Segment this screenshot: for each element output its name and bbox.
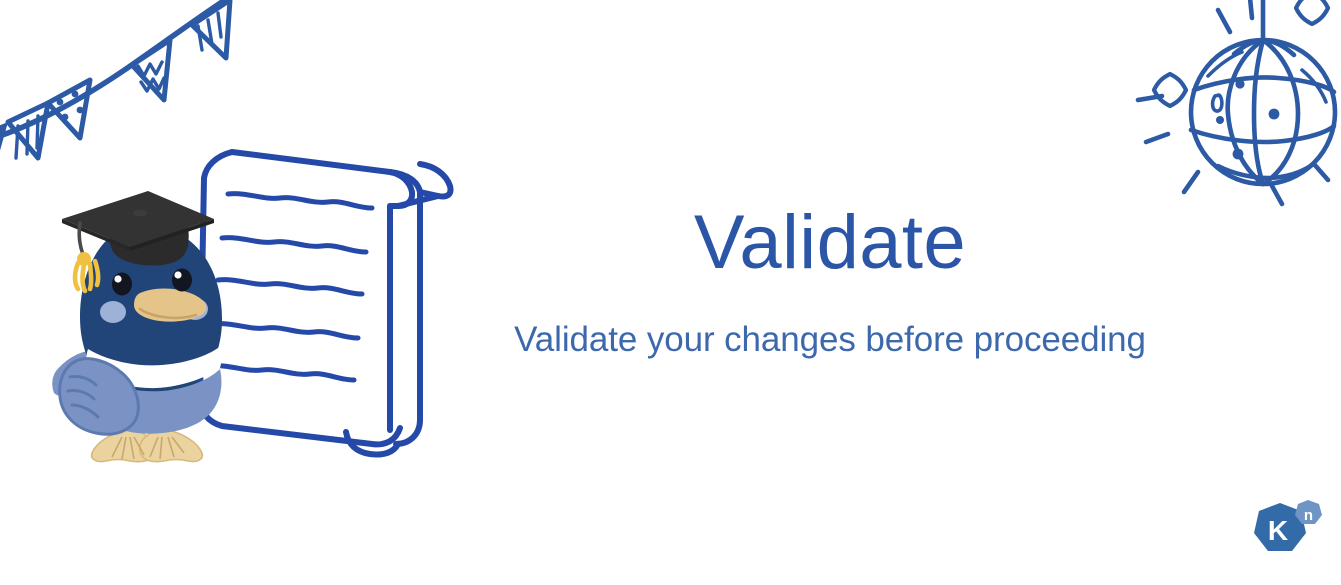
graduate-bird-mascot xyxy=(52,185,262,470)
bird-wing xyxy=(60,359,139,435)
bird-head-body xyxy=(80,227,222,399)
hero-text-block: Validate Validate your changes before pr… xyxy=(460,205,1200,360)
bird-legs xyxy=(122,397,172,433)
bunting-flag-dots xyxy=(48,80,90,138)
disco-ball xyxy=(1122,0,1341,234)
sparkle-icon xyxy=(1154,74,1186,106)
scroll-text-lines xyxy=(210,194,372,380)
bird-eyes xyxy=(112,269,192,296)
bunting-flag-edge xyxy=(192,0,230,58)
diploma-scroll xyxy=(176,130,476,460)
bird-feet xyxy=(92,429,203,462)
bird-cheek xyxy=(100,301,126,323)
bunting-flag-stripes xyxy=(8,103,48,158)
sparkle-icon xyxy=(1296,0,1328,24)
graduation-cap-icon xyxy=(62,191,214,291)
bunting-flag-zigzag xyxy=(132,40,170,100)
bunting-flag-solid xyxy=(0,122,8,172)
bird-tail xyxy=(52,351,91,396)
logo-badge-letter: n xyxy=(1304,507,1313,524)
party-bunting-garland xyxy=(0,0,246,190)
page-subtitle: Validate your changes before proceeding xyxy=(460,321,1200,360)
kn-brand-logo: K n xyxy=(1247,500,1327,570)
slide-canvas: Validate Validate your changes before pr… xyxy=(0,0,1341,585)
bird-cheek xyxy=(182,298,208,320)
bird-chest-band xyxy=(86,345,222,388)
bird-beak xyxy=(134,289,206,322)
bird-lower-body xyxy=(78,369,222,434)
tassel xyxy=(75,252,98,291)
logo-primary-letter: K xyxy=(1268,515,1288,546)
page-title: Validate xyxy=(460,205,1200,281)
